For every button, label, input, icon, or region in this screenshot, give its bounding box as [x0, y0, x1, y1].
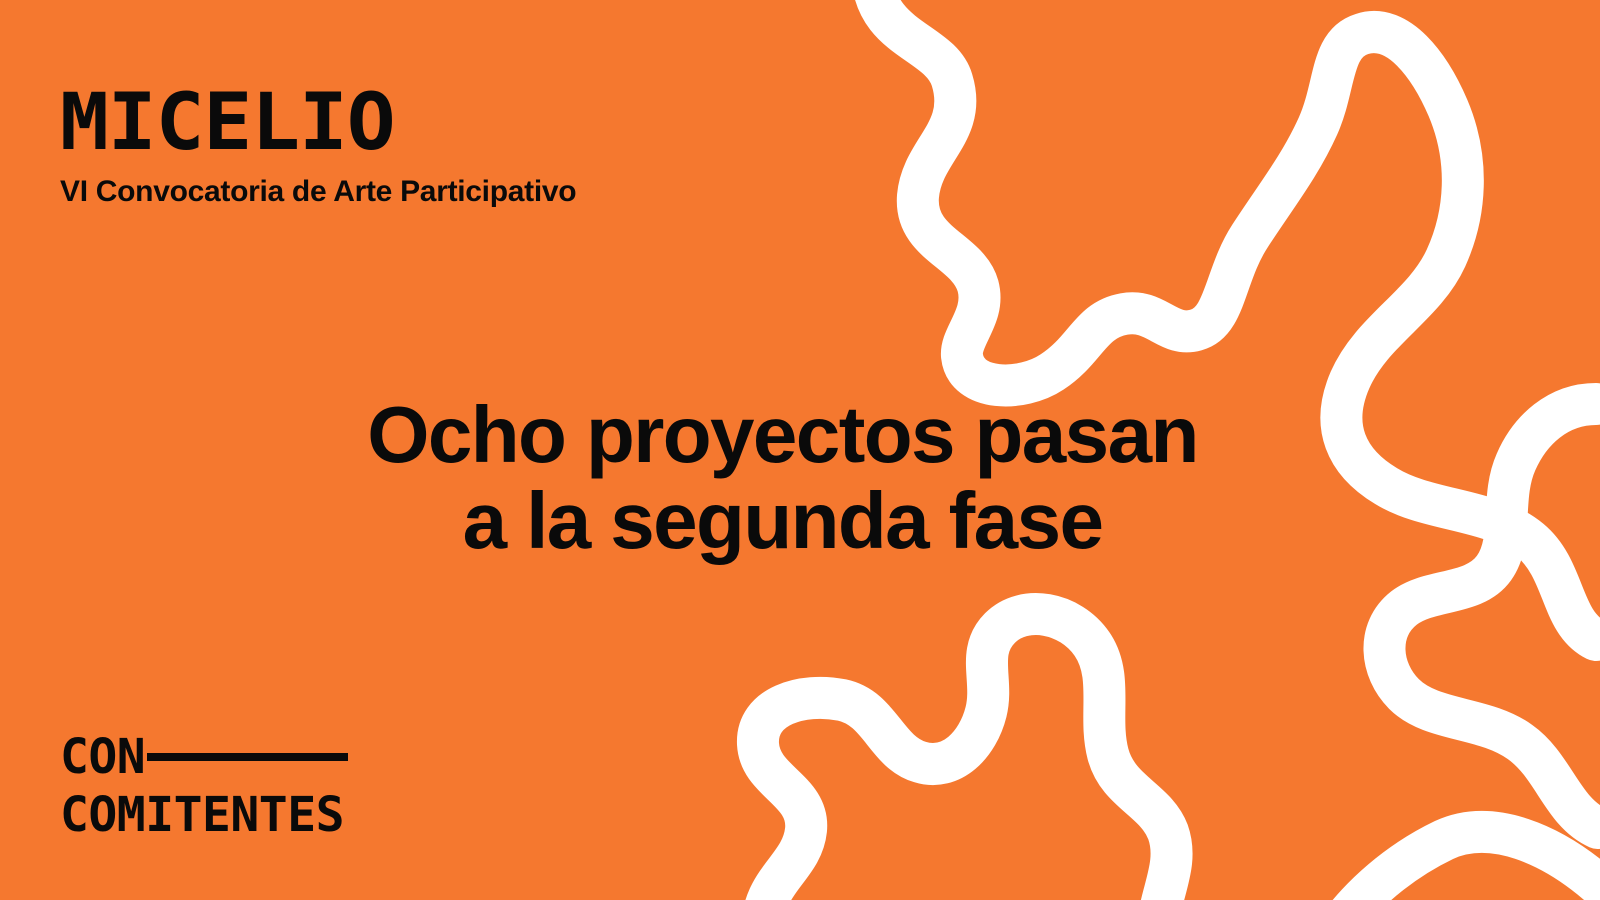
concomitentes-logo: CON COMITENTES	[60, 734, 348, 839]
brand-tagline: VI Convocatoria de Arte Participativo	[60, 176, 576, 208]
brand-lockup: MICELIO VI Convocatoria de Arte Particip…	[60, 88, 576, 207]
logo-word-con: CON	[60, 733, 145, 781]
poster-canvas: MICELIO VI Convocatoria de Arte Particip…	[0, 0, 1600, 900]
squiggle-path-lower-center	[758, 614, 1172, 900]
page-title: MICELIO	[60, 88, 597, 160]
logo-word-comitentes: COMITENTES	[60, 791, 348, 839]
headline-line-2: a la segunda fase	[0, 478, 1565, 564]
squiggle-path-bottom-right	[1336, 832, 1600, 900]
headline: Ocho proyectos pasan a la segunda fase	[0, 392, 1565, 565]
logo-divider-rule	[147, 753, 348, 761]
headline-line-1: Ocho proyectos pasan	[0, 392, 1565, 478]
logo-top-row: CON	[60, 734, 348, 780]
